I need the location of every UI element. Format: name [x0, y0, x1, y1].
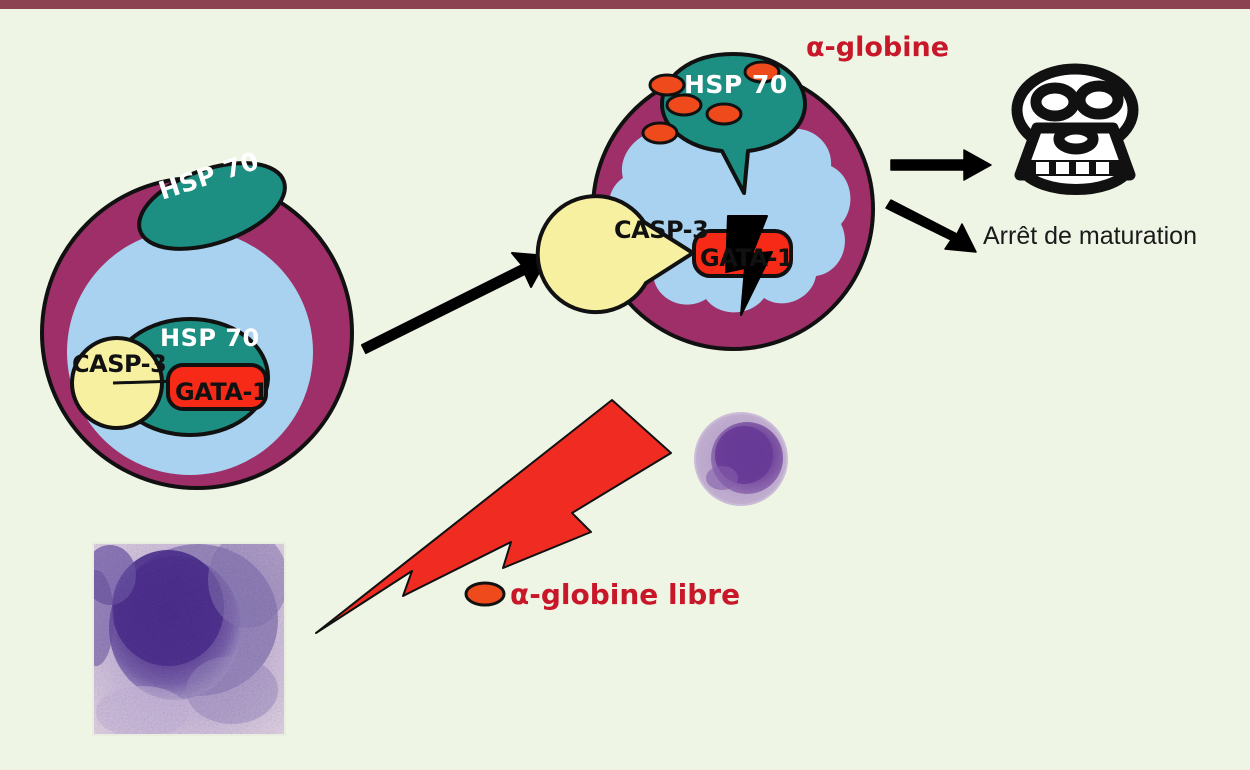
alpha-globin-oval-icon [667, 95, 701, 115]
alpha-globin-oval-icon [707, 104, 741, 124]
alpha-globin-oval-icon [650, 75, 684, 95]
large-erythroblast-micrograph [78, 532, 288, 738]
left-cell-group [42, 146, 352, 488]
right-cell-group [538, 54, 873, 349]
left-cell-gata1 [168, 365, 266, 409]
alpha-globin-oval-icon [745, 62, 779, 82]
legend-alpha-globin-oval-icon [466, 583, 504, 605]
transition-arrow [362, 253, 548, 353]
diagram-svg [0, 0, 1250, 770]
arrow-to-skull [891, 150, 991, 180]
figure-canvas: HSP 70 HSP 70 CASP-3 GATA-1 HSP 70 CASP-… [0, 0, 1250, 770]
skull-icon [1017, 69, 1133, 190]
alpha-globin-oval-icon [643, 123, 677, 143]
arrow-to-arret [886, 200, 976, 252]
small-erythroblast-micrograph [695, 413, 787, 505]
